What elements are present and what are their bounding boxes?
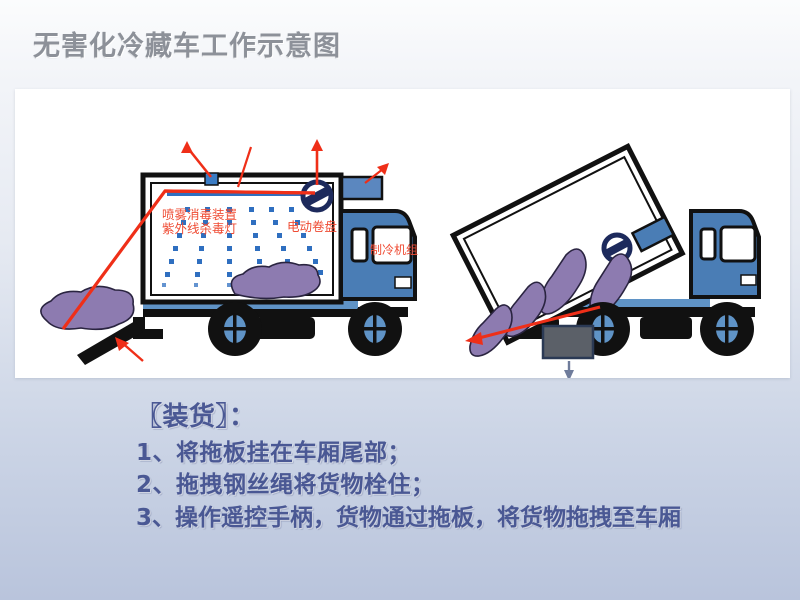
instruction-step-1: 1、将拖板挂在车厢尾部； <box>136 437 796 470</box>
right-wheel-front <box>700 302 754 356</box>
instructions-heading: 〖装货〗： <box>136 402 796 433</box>
right-cab-window-small <box>701 229 715 259</box>
diagram-panel: 喷雾消毒装置 紫外线杀毒灯 电动卷盘 制冷机组 拖板 自卸装置 污水收集箱 <box>15 89 790 378</box>
left-truck-group <box>41 139 415 365</box>
label-spray-line1: 喷雾消毒装置 <box>162 208 237 222</box>
label-cooling-unit: 制冷机组 <box>370 244 418 257</box>
left-underbody-box <box>255 317 315 339</box>
instruction-step-2: 2、拖拽钢丝绳将货物栓住； <box>136 469 796 502</box>
left-wheel-rear <box>208 302 262 356</box>
left-cab-light <box>395 277 411 288</box>
slide-root: 无害化冷藏车工作示意图 <box>0 0 800 600</box>
left-wheel-front <box>348 302 402 356</box>
right-cab-light <box>741 275 756 285</box>
spray-nozzle-head <box>205 173 218 185</box>
right-underbody-box-b <box>640 317 692 339</box>
diagram-canvas: 喷雾消毒装置 紫外线杀毒灯 电动卷盘 制冷机组 拖板 自卸装置 污水收集箱 <box>15 89 790 378</box>
right-truck-group <box>453 146 759 378</box>
label-electric-reel: 电动卷盘 <box>287 220 337 234</box>
instruction-step-3: 3、操作遥控手柄，货物通过拖板，将货物拖拽至车厢 <box>136 502 796 535</box>
label-spray-device: 喷雾消毒装置 紫外线杀毒灯 <box>162 208 237 236</box>
ground-cargo-blob <box>41 286 134 329</box>
leader-reel-arrow <box>311 139 323 151</box>
cooling-unit-box <box>342 177 382 199</box>
winch-cable-top <box>165 191 315 193</box>
tank-arrow-head <box>564 370 574 378</box>
label-spray-line2: 紫外线杀毒灯 <box>162 222 237 236</box>
electric-reel-icon <box>303 182 332 210</box>
right-cab-window-main <box>721 227 755 261</box>
truck-diagram-svg <box>15 89 790 378</box>
instructions-block: 〖装货〗： 1、将拖板挂在车厢尾部； 2、拖拽钢丝绳将货物栓住； 3、操作遥控手… <box>136 402 796 535</box>
page-title: 无害化冷藏车工作示意图 <box>33 24 341 63</box>
left-cab-window-small <box>352 229 367 261</box>
sewage-tank-box <box>543 326 593 358</box>
leader-spray-arrow <box>181 141 193 153</box>
